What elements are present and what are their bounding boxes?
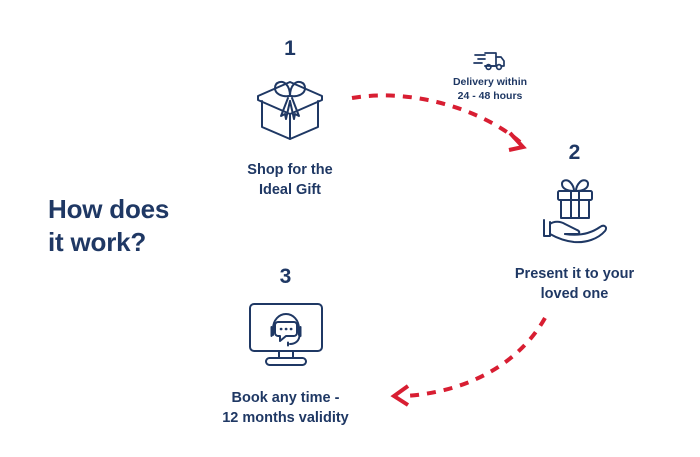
step-2-number: 2 [487, 142, 662, 163]
delivery-badge-text: Delivery within 24 - 48 hours [430, 75, 550, 103]
gift-box-icon [205, 67, 375, 145]
page-title: How does it work? [48, 193, 238, 260]
step-1-number: 1 [205, 38, 375, 59]
step-3-number: 3 [198, 266, 373, 287]
delivery-badge: Delivery within 24 - 48 hours [430, 50, 550, 103]
arrow-step2-to-step3 [394, 318, 545, 405]
step-3-caption: Book any time - 12 months validity [198, 389, 373, 428]
step-1: 1 Shop for the Ideal Gift [205, 38, 375, 200]
step-3: 3 Book any [198, 266, 373, 428]
monitor-support-headset-icon [198, 295, 373, 373]
step-1-caption: Shop for the Ideal Gift [205, 161, 375, 200]
step-2: 2 Present it to your loved one [487, 142, 662, 304]
hand-holding-gift-icon [487, 171, 662, 249]
step-2-caption: Present it to your loved one [487, 265, 662, 304]
how-it-works-infographic: How does it work? 1 Shop for the Ideal G… [0, 0, 700, 457]
page-title-line-2: it work? [48, 226, 238, 259]
delivery-truck-icon [430, 50, 550, 72]
